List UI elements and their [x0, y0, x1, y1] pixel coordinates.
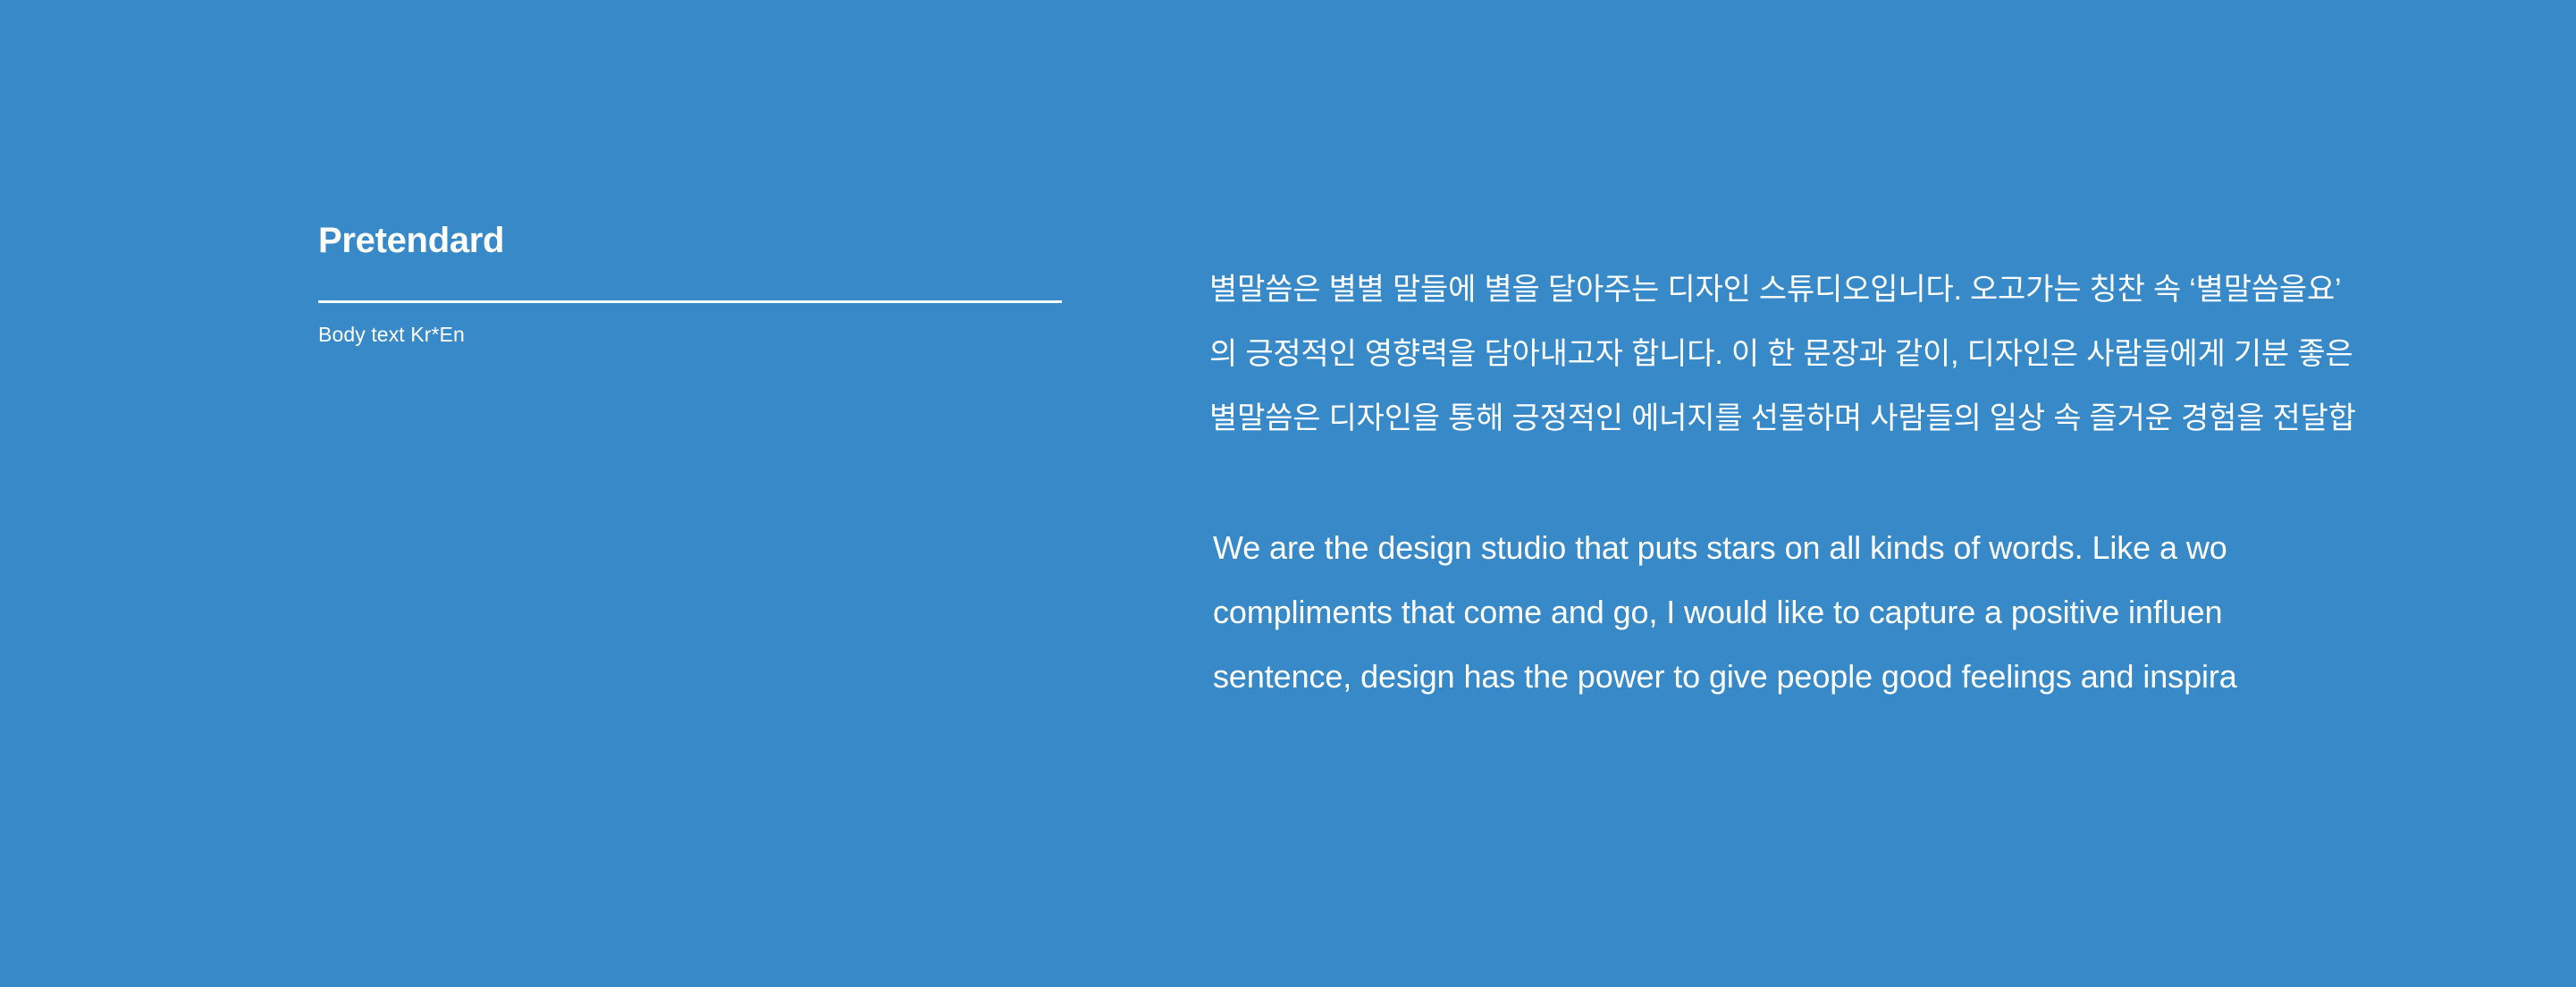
korean-sample-line: 별말씀은 디자인을 통해 긍정적인 에너지를 선물하며 사람들의 일상 속 즐거…	[1209, 386, 2576, 451]
korean-sample-paragraph: 별말씀은 별별 말들에 별을 달아주는 디자인 스튜디오입니다. 오고가는 칭찬…	[1209, 257, 2576, 451]
divider-rule	[318, 300, 1062, 303]
sample-text-column: 별말씀은 별별 말들에 별을 달아주는 디자인 스튜디오입니다. 오고가는 칭찬…	[1209, 257, 2576, 709]
english-sample-line: compliments that come and go, I would li…	[1213, 580, 2576, 645]
font-caption-label: Body text Kr*En	[318, 323, 1062, 348]
font-label-column: Pretendard Body text Kr*En	[318, 222, 1062, 348]
font-name-heading: Pretendard	[318, 222, 1062, 259]
korean-sample-line: 별말씀은 별별 말들에 별을 달아주는 디자인 스튜디오입니다. 오고가는 칭찬…	[1209, 257, 2576, 322]
korean-sample-line: 의 긍정적인 영향력을 담아내고자 합니다. 이 한 문장과 같이, 디자인은 …	[1209, 322, 2576, 386]
english-sample-line: sentence, design has the power to give p…	[1213, 645, 2576, 709]
english-sample-paragraph: We are the design studio that puts stars…	[1209, 516, 2576, 709]
english-sample-line: We are the design studio that puts stars…	[1213, 516, 2576, 580]
type-specimen-page: Pretendard Body text Kr*En 별말씀은 별별 말들에 별…	[0, 0, 2576, 987]
